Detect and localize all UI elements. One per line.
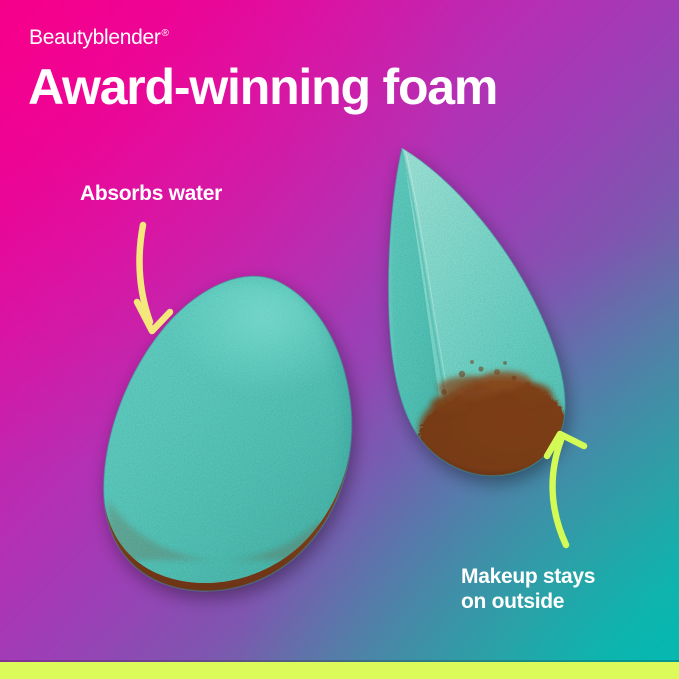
accent-bar — [0, 662, 679, 679]
product-marketing-image: Beautyblender® Award-winning foam Absorb… — [0, 0, 679, 679]
callout-makeup-stays-on-outside: Makeup stays on outside — [461, 565, 595, 615]
brand-wordmark: Beautyblender® — [29, 26, 169, 50]
page-title: Award-winning foam — [28, 60, 497, 114]
brand-name: Beautyblender — [29, 26, 161, 49]
callout-absorbs-water: Absorbs water — [80, 182, 222, 207]
registered-trademark-symbol: ® — [162, 28, 169, 39]
